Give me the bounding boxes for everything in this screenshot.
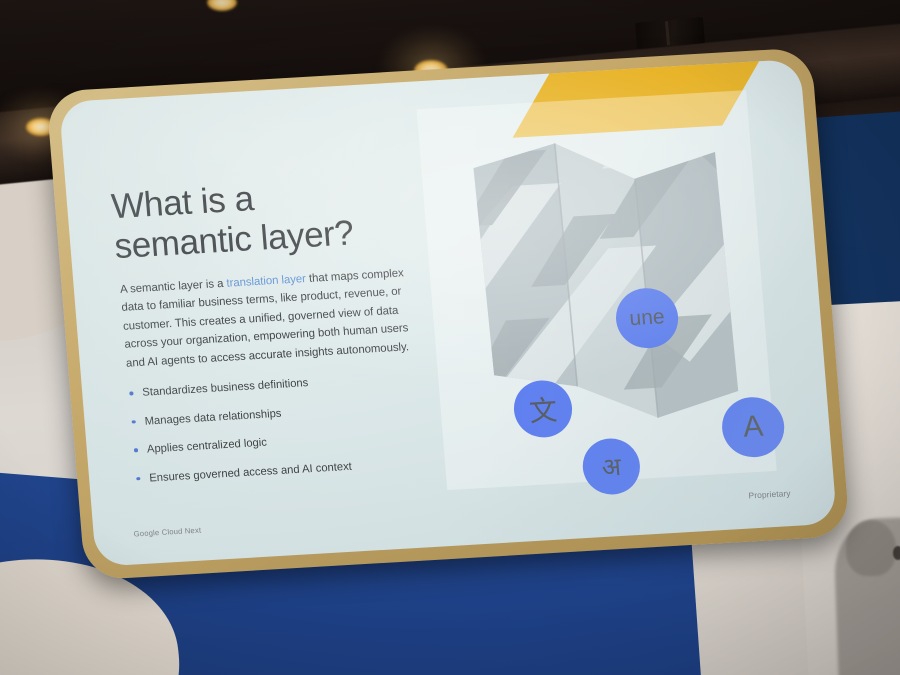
slide-footer-left: Google Cloud Next <box>133 526 201 539</box>
devanagari-circle-glyph: अ <box>600 449 622 484</box>
bullet-label: Applies centralized logic <box>147 437 268 456</box>
body-text-part-1: A semantic layer is a <box>120 278 227 296</box>
slide-body-text: A semantic layer is a translation layer … <box>119 264 414 373</box>
slide-title: What is a semantic layer? <box>110 168 446 267</box>
list-item: Manages data relationships <box>130 398 431 430</box>
bullet-label: Standardizes business definitions <box>142 377 309 399</box>
bullet-label: Ensures governed access and AI context <box>149 460 352 484</box>
person-head-silhouette <box>846 520 896 576</box>
folded-map-icon <box>448 115 764 461</box>
bullet-label: Manages data relationships <box>144 407 282 427</box>
list-item: Applies centralized logic <box>132 426 433 458</box>
list-item: Ensures governed access and AI context <box>135 455 436 487</box>
latin-circle-glyph: A <box>742 410 765 445</box>
chinese-circle-glyph: 文 <box>527 388 558 430</box>
slide-surface: What is a semantic layer? A semantic lay… <box>59 59 837 567</box>
slide-footer-right: Proprietary <box>748 488 791 500</box>
une-circle-glyph: une <box>629 305 666 331</box>
list-item: Standardizes business definitions <box>128 369 429 401</box>
photo-scene: What is a semantic layer? A semantic lay… <box>0 0 900 675</box>
person-ear-detail <box>893 546 900 560</box>
slide-bullet-list: Standardizes business definitions Manage… <box>128 369 437 500</box>
projection-screen: What is a semantic layer? A semantic lay… <box>46 47 850 580</box>
translation-layer-link[interactable]: translation layer <box>226 273 306 290</box>
